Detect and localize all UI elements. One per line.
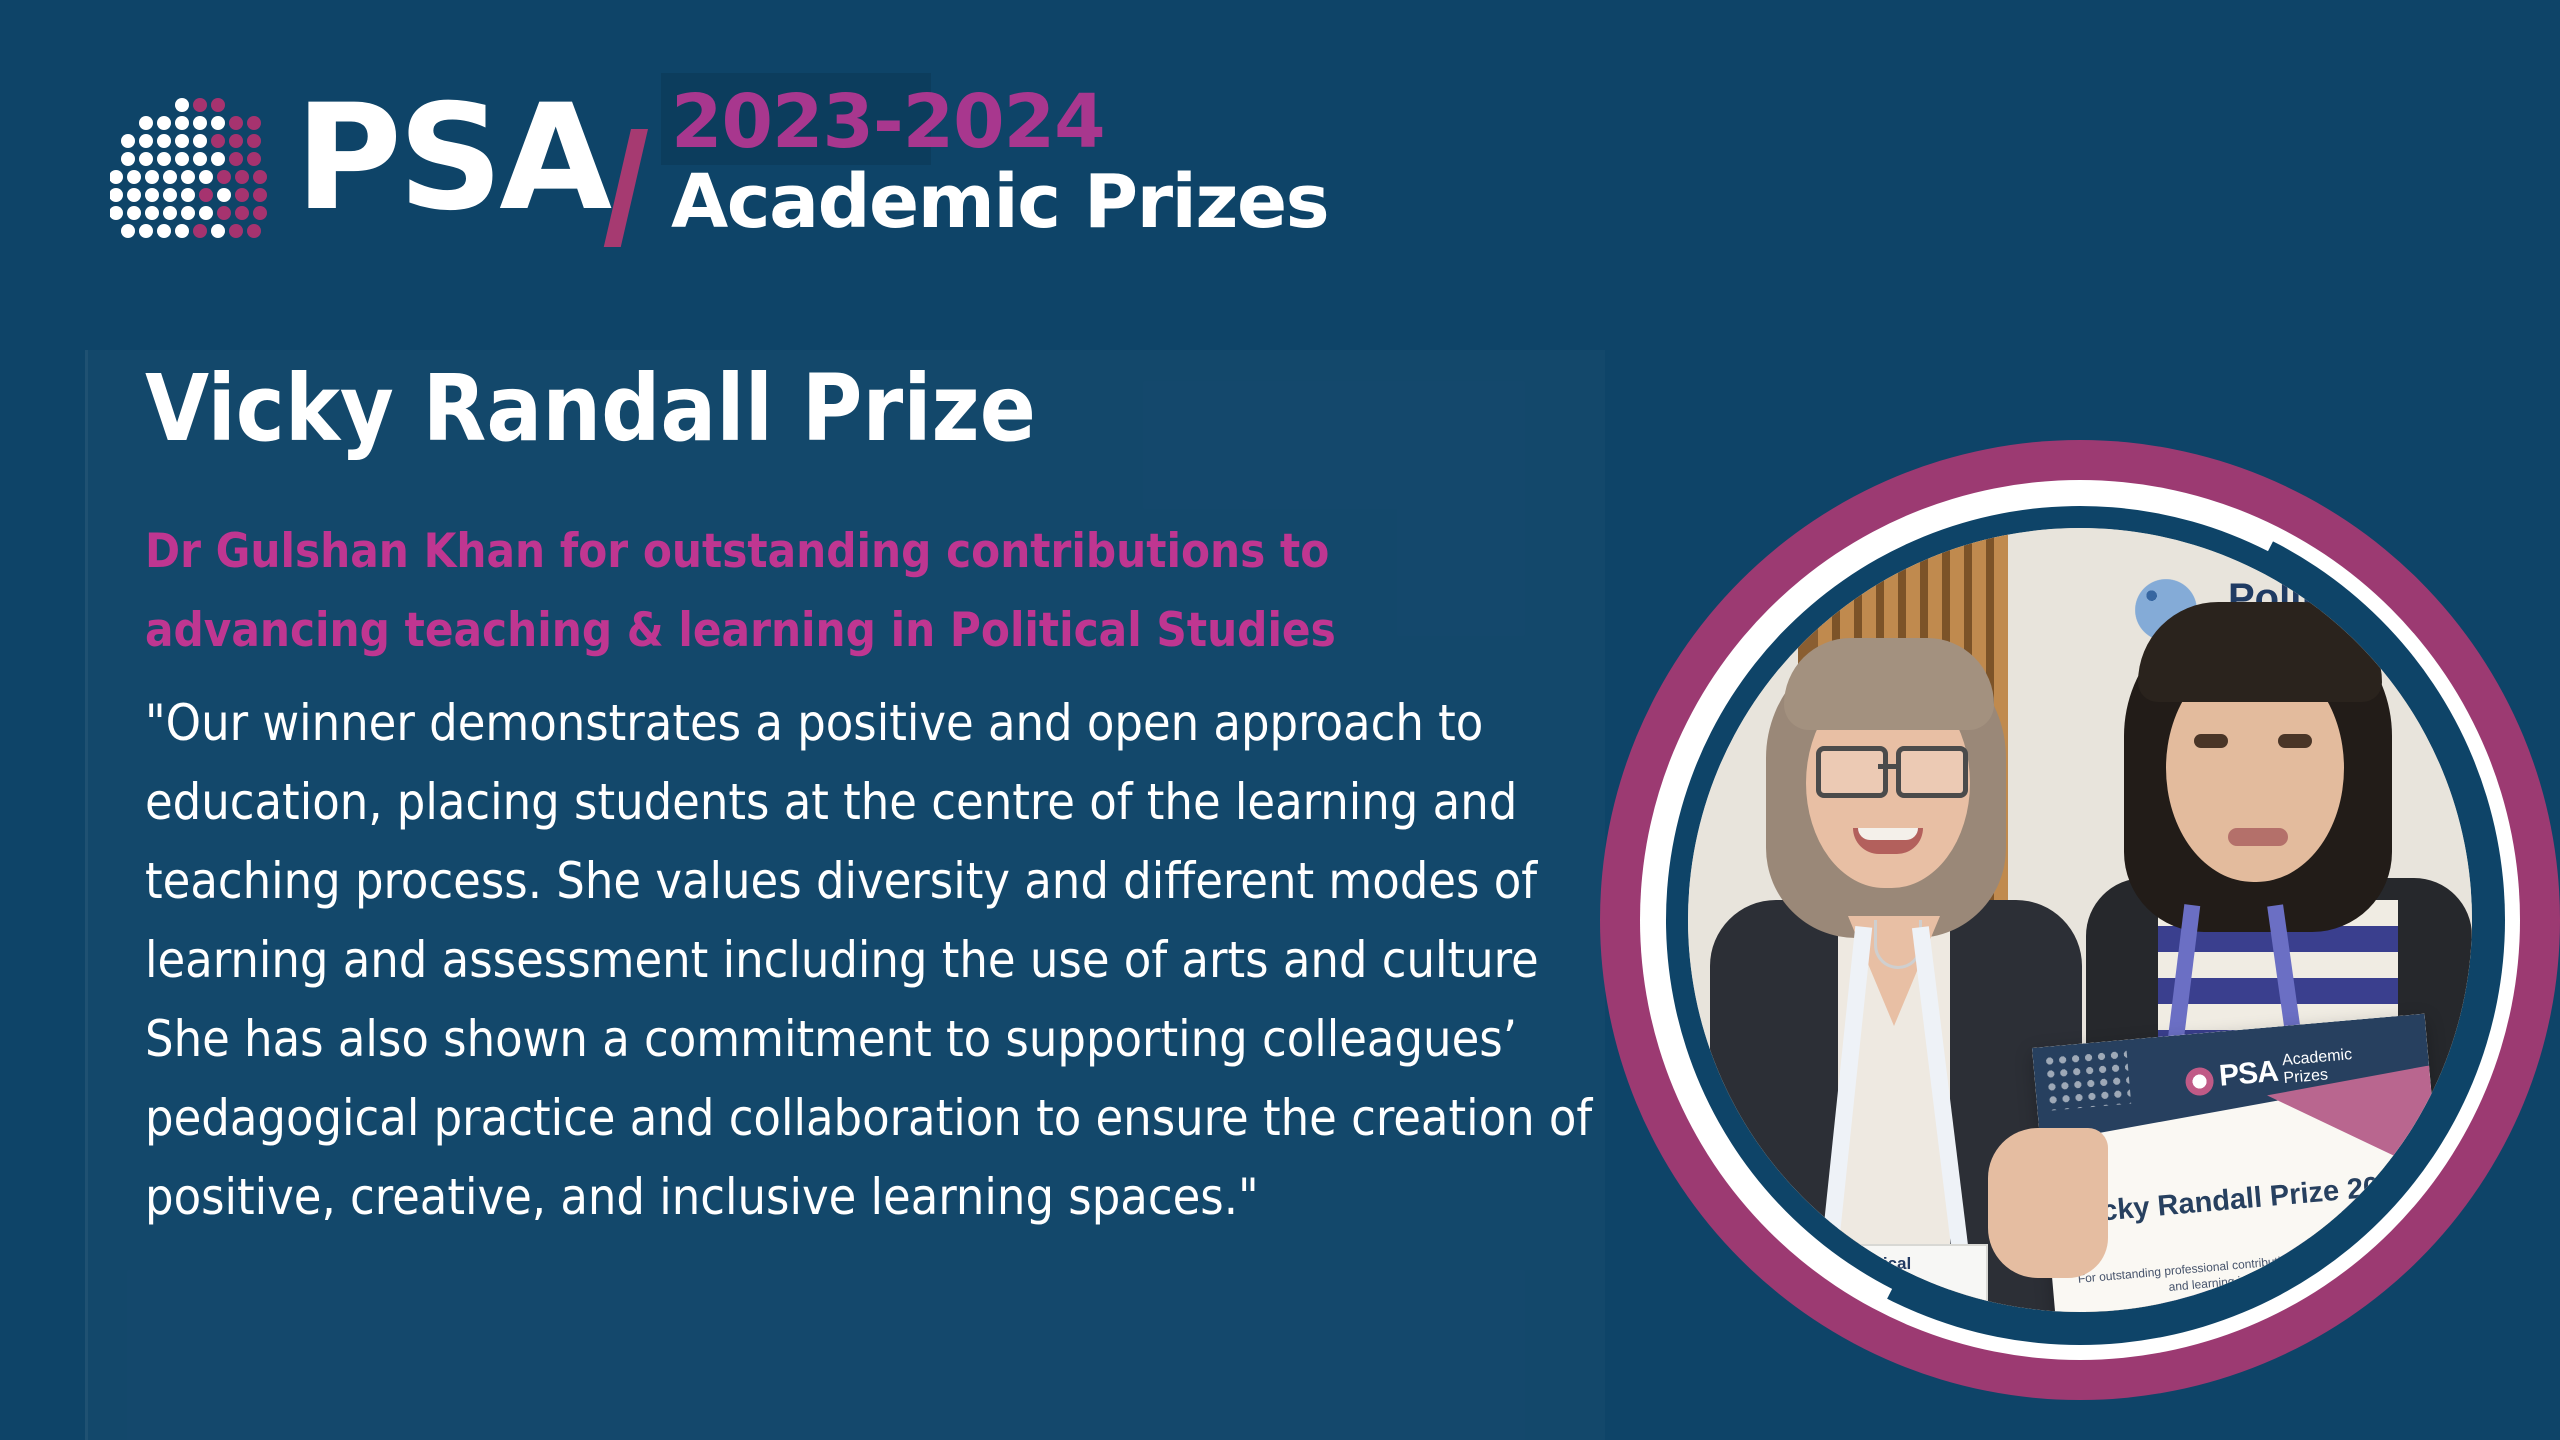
- program-name-label: Academic Prizes: [671, 165, 1328, 239]
- year-range-label: 2023-2024: [671, 85, 1105, 159]
- person-left-glasses-right-lens: [1896, 746, 1968, 798]
- person-right-mouth: [2228, 828, 2288, 846]
- winner-photograph: Political Studies Political Studies Asso…: [1688, 528, 2472, 1312]
- person-right-right-eye: [2278, 734, 2312, 748]
- certificate-brand: PSA: [2218, 1055, 2279, 1094]
- year-range-block: 2023-2024: [671, 85, 1105, 159]
- page-title: Vicky Randall Prize: [145, 357, 1325, 461]
- person-left-badge-line2: Association: [1846, 1276, 1976, 1293]
- person-right-fringe: [2138, 602, 2382, 702]
- person-right-left-eye: [2194, 734, 2228, 748]
- person-right-hand: [2388, 1158, 2472, 1308]
- certificate-brand-sub-line2: Prizes: [2283, 1066, 2329, 1088]
- certificate-dot-pattern-icon: [2043, 1048, 2132, 1111]
- poster-canvas: PSA 2023-2024 Academic Prizes Vicky Rand…: [0, 0, 2560, 1440]
- person-left-glasses-bridge: [1878, 764, 1896, 769]
- person-left-glasses-left-lens: [1816, 746, 1888, 798]
- psa-dot-circle-logo-icon: [110, 93, 270, 253]
- content-panel-left-edge: [85, 350, 88, 1440]
- winner-photo-composition: Political Studies Political Studies Asso…: [1600, 440, 2560, 1440]
- psa-a-accent-stripe: [604, 129, 648, 247]
- psa-wordmark: PSA: [295, 85, 608, 231]
- award-citation: "Our winner demonstrates a positive and …: [145, 684, 1615, 1237]
- person-left-hand: [1988, 1128, 2108, 1278]
- award-subtitle: Dr Gulshan Khan for outstanding contribu…: [145, 512, 1485, 670]
- person-left-teeth: [1858, 828, 1918, 840]
- person-left-fringe: [1784, 638, 1994, 730]
